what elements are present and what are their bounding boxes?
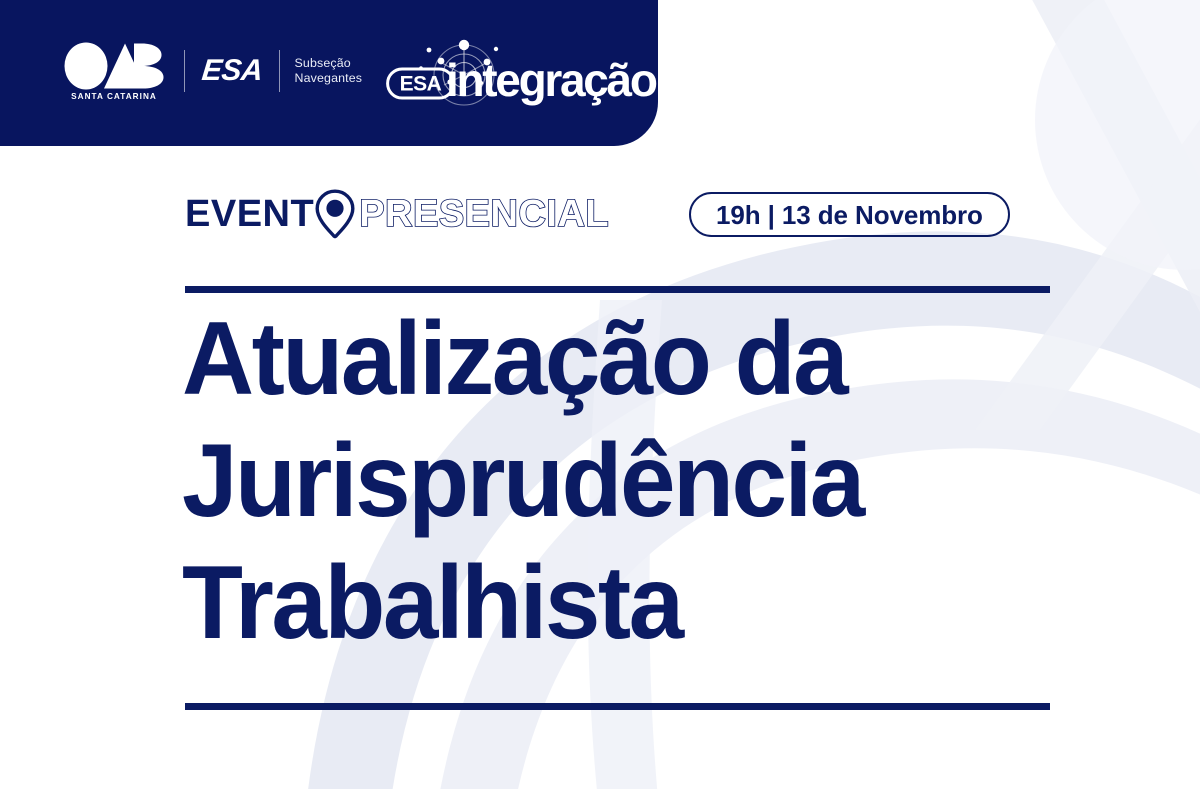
esa-integracao-logo: ESA integração (386, 33, 663, 109)
esa-integracao-mark: ESA integração (386, 33, 663, 109)
oab-logo-mark (64, 42, 164, 90)
map-pin-icon (315, 189, 355, 239)
esa-badge: ESA (388, 69, 454, 98)
oab-logo: SANTA CATARINA (64, 42, 164, 100)
eyebrow-row: EVENT PRESENCIAL (185, 190, 609, 238)
subsection-line-1: Subseção (295, 56, 363, 72)
esa-label: ESA (200, 54, 264, 88)
subsection-label: Subseção Navegantes (295, 56, 363, 87)
evento-label: EVENT (185, 195, 314, 233)
date-badge: 19h | 13 de Novembro (689, 192, 1010, 237)
event-banner: SANTA CATARINA ESA Subseção Navegantes (0, 0, 1200, 789)
presencial-label: PRESENCIAL (359, 195, 609, 233)
svg-text:ESA: ESA (400, 73, 442, 96)
headline-line-1: Atualização da (182, 298, 1046, 420)
date-badge-text: 19h | 13 de Novembro (716, 202, 983, 228)
oab-state-label: SANTA CATARINA (64, 92, 164, 101)
header-divider-2 (279, 50, 280, 92)
headline-rule-bottom (185, 703, 1050, 710)
integracao-wordmark: integração (446, 54, 657, 106)
headline-line-2: Jurisprudência (182, 420, 1046, 542)
swoosh-circle (1035, 0, 1200, 270)
header-navy-block: SANTA CATARINA ESA Subseção Navegantes (0, 0, 658, 146)
headline-line-3: Trabalhista (182, 542, 1046, 664)
subsection-line-2: Navegantes (295, 71, 363, 87)
headline: Atualização da Jurisprudência Trabalhist… (182, 298, 1046, 664)
headline-rule-top (185, 286, 1050, 293)
header-logos-row: SANTA CATARINA ESA Subseção Navegantes (64, 33, 663, 109)
header-divider-1 (184, 50, 185, 92)
